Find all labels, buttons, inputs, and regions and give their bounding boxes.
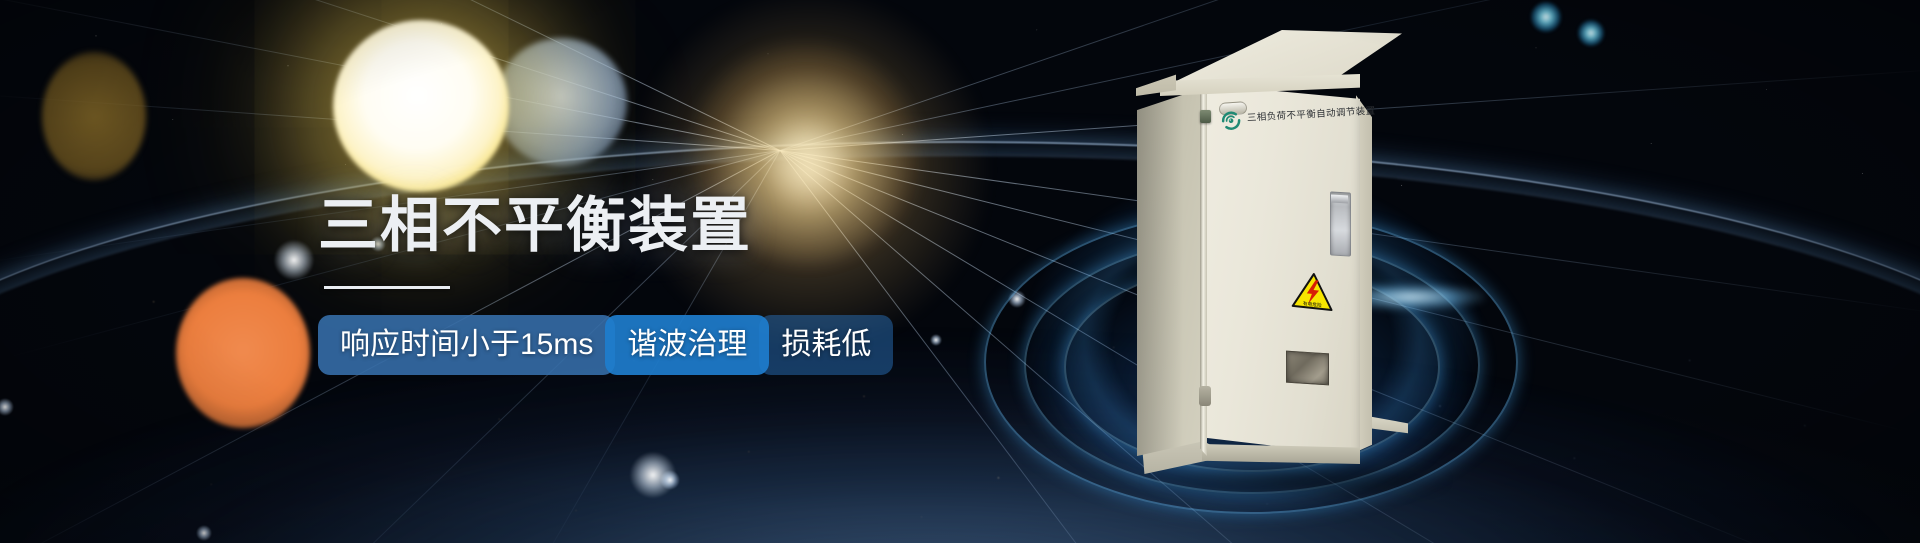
feature-pill-low-loss: 损耗低 [759,315,893,375]
feature-pill-list: 响应时间小于15ms 谐波治理 损耗低 [318,315,893,375]
banner-copy: 三相不平衡装置 响应时间小于15ms 谐波治理 损耗低 [318,196,893,375]
door-hinge-top [1200,110,1211,123]
title-divider [324,286,450,289]
cabinet-side-shading [1137,88,1203,456]
bokeh-orange [176,278,310,428]
company-roundel-logo [1220,109,1243,132]
door-label-text: 三相负荷不平衡自动调节装置 [1247,108,1376,125]
cabinet-vent-nameplate [1286,351,1329,386]
cabinet-front-door [1202,84,1360,456]
lens-glint [630,452,676,498]
bokeh-white-yellow [333,20,509,192]
cabinet-shadow [1146,460,1446,500]
page-title: 三相不平衡装置 [318,196,893,256]
bokeh-amber [42,52,146,180]
product-image: 三相负荷不平衡自动调节装置 有电危险 [1042,14,1462,534]
lens-glint [274,240,314,280]
bokeh-steel-blue [495,38,627,166]
network-node [196,525,212,541]
network-node [0,398,14,416]
hero-banner: 三相负荷不平衡自动调节装置 有电危险 三相不平衡装置 响应时间小于15ms 谐波… [0,0,1920,543]
feature-pill-response-time: 响应时间小于15ms [318,315,615,375]
door-lock-lip [1331,195,1348,204]
door-latch-bottom [1199,386,1211,406]
high-voltage-warning-sticker: 有电危险 [1291,270,1335,312]
control-cabinet: 三相负荷不平衡自动调节装置 有电危险 [1116,14,1406,484]
cyan-orb [1531,2,1561,32]
feature-pill-harmonic-treatment: 谐波治理 [605,315,769,375]
cyan-orb [1578,20,1604,46]
